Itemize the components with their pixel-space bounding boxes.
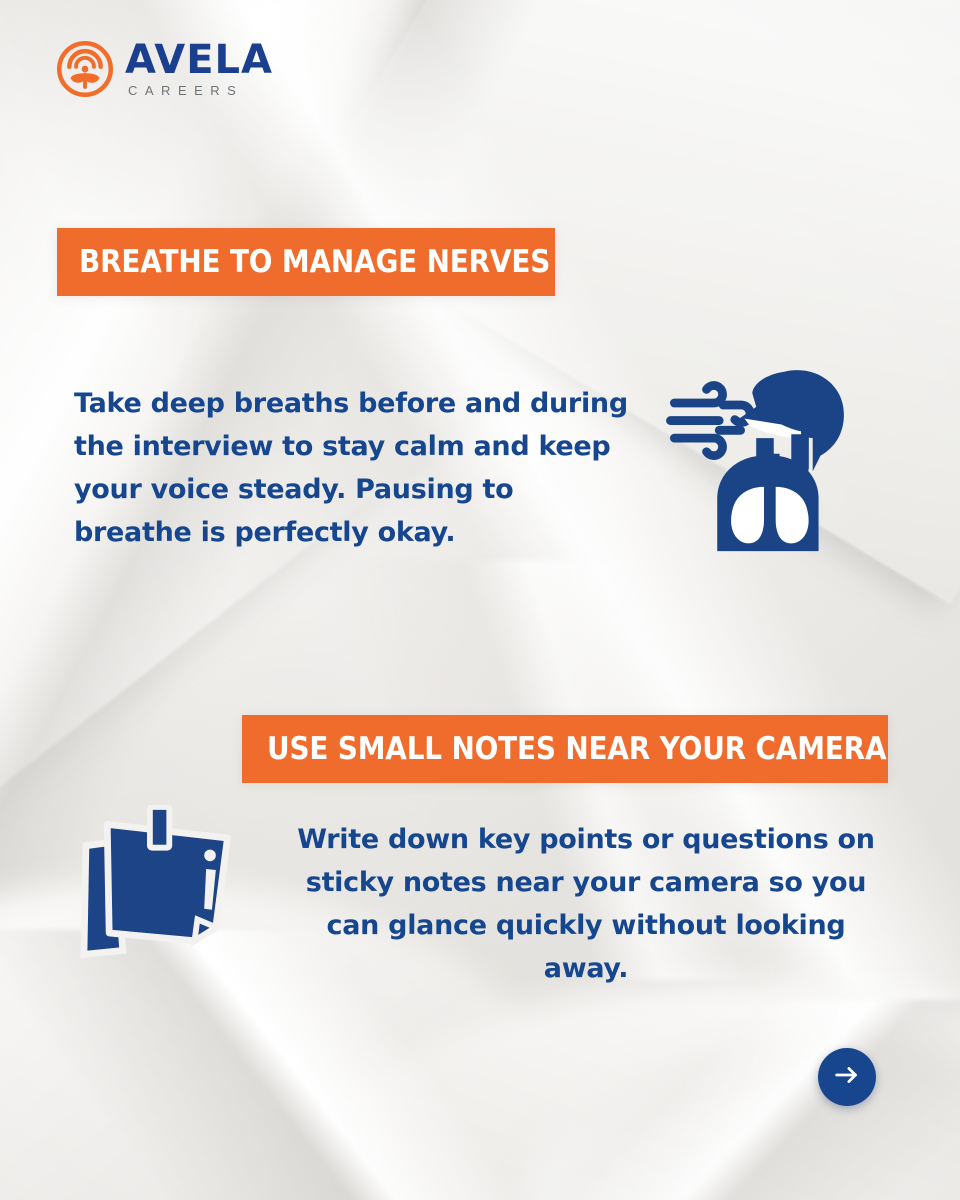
brand-logo[interactable]: AVELA CAREERS (57, 40, 273, 97)
avela-circular-emblem-icon (57, 41, 113, 97)
arrow-right-icon (832, 1060, 862, 1095)
sticky-notes-icon (80, 805, 245, 965)
section-body-notes: Write down key points or questions on st… (286, 818, 886, 990)
section-body-breathe: Take deep breaths before and during the … (74, 382, 634, 554)
brand-name: AVELA (125, 40, 273, 80)
next-button[interactable] (818, 1048, 876, 1106)
section-heading-notes: USE SMALL NOTES NEAR YOUR CAMERA (242, 715, 888, 783)
section-heading-breathe-label: BREATHE TO MANAGE NERVES (79, 244, 550, 280)
section-heading-notes-label: USE SMALL NOTES NEAR YOUR CAMERA (267, 731, 886, 767)
breathing-lungs-icon (666, 366, 862, 556)
section-heading-breathe: BREATHE TO MANAGE NERVES (57, 228, 555, 296)
brand-tagline: CAREERS (128, 84, 273, 97)
